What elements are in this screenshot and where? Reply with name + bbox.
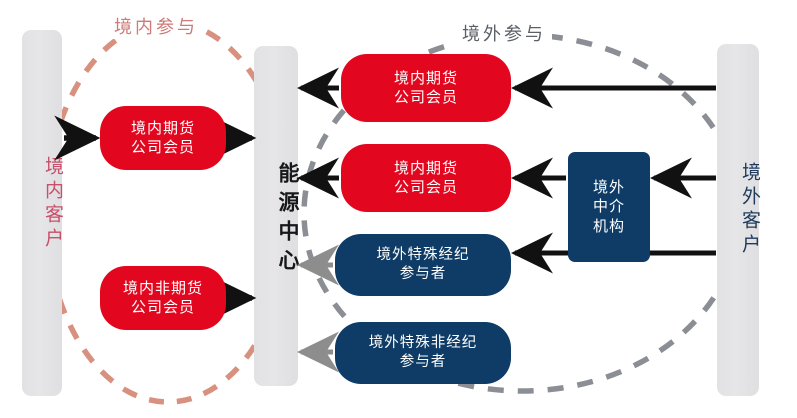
node-line-2: 公司会员: [131, 138, 195, 157]
node-overseas-intermediary-institution[interactable]: 境外 中介 机构: [568, 152, 650, 262]
node-line-2: 公司会员: [131, 298, 195, 317]
node-overseas-special-nonbrokerage-participant[interactable]: 境外特殊非经纪 参与者: [335, 322, 511, 384]
node-line-3: 机构: [593, 217, 625, 237]
node-line-1: 境外特殊经纪: [377, 246, 470, 265]
node-futures-member-row1[interactable]: 境内期货 公司会员: [341, 54, 511, 122]
node-line-2: 公司会员: [394, 88, 458, 107]
node-line-1: 境内期货: [394, 159, 458, 178]
node-line-2: 中介: [593, 197, 625, 217]
node-line-2: 参与者: [400, 265, 447, 284]
node-line-1: 境内期货: [131, 119, 195, 138]
node-domestic-futures-member[interactable]: 境内期货 公司会员: [100, 106, 226, 170]
node-line-1: 境外特殊非经纪: [369, 334, 478, 353]
node-line-2: 公司会员: [394, 178, 458, 197]
node-line-1: 境外: [593, 178, 625, 198]
node-line-1: 境内期货: [394, 69, 458, 88]
label-domestic-participation: 境内参与: [108, 13, 204, 39]
label-overseas-participation: 境外参与: [456, 20, 552, 46]
node-futures-member-row2[interactable]: 境内期货 公司会员: [341, 144, 511, 212]
node-line-2: 参与者: [400, 353, 447, 372]
node-overseas-special-brokerage-participant[interactable]: 境外特殊经纪 参与者: [335, 234, 511, 296]
diagram-canvas: 境内客户 能源中心 境外客户: [0, 0, 797, 418]
node-domestic-nonfutures-member[interactable]: 境内非期货 公司会员: [100, 266, 226, 330]
node-line-1: 境内非期货: [123, 279, 203, 298]
